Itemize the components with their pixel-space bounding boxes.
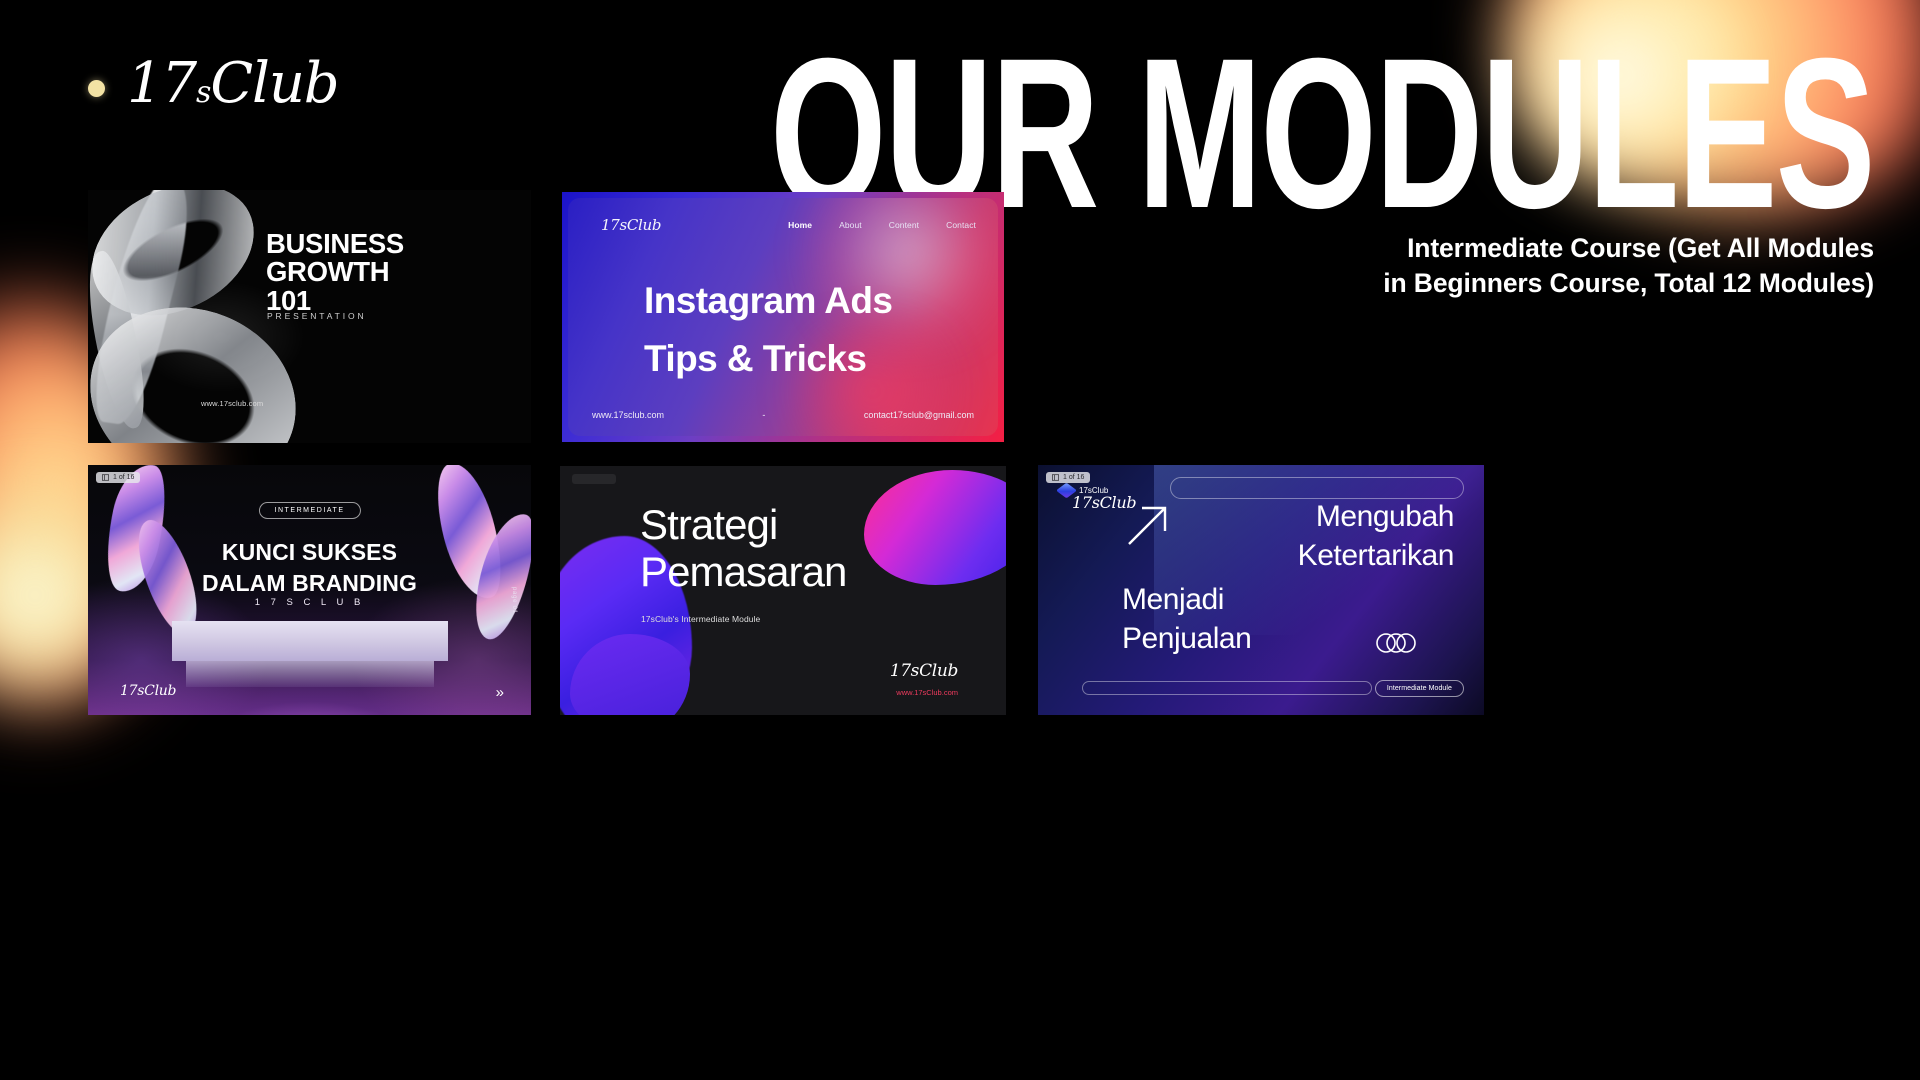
card-inner-surface: 17sClub Home About Content Contact Insta…: [568, 198, 998, 436]
dot-icon: [88, 80, 105, 97]
module-card-strategi-pemasaran[interactable]: Strategi Pemasaran 17sClub's Intermediat…: [560, 466, 1006, 715]
card-brand-logo: 17sClub: [601, 216, 661, 234]
card-heading-right: Mengubah Ketertarikan: [1298, 497, 1454, 575]
card-footer: www.17sclub.com - contact17sclub@gmail.c…: [592, 410, 974, 420]
arrow-up-right-icon: [1126, 503, 1170, 547]
slide-counter-badge: 1 of 16: [96, 472, 140, 483]
headline-block: OUR MODULES Intermediate Course (Get All…: [297, 46, 1874, 300]
card-page-label: page 01: [511, 587, 517, 614]
card-footer-dash: -: [762, 410, 765, 420]
card-url: www.17sClub.com: [896, 688, 958, 697]
card-subtitle: 17sClub's Intermediate Module: [641, 614, 760, 624]
bottom-bar-outline: [1082, 681, 1372, 695]
card-title: KUNCI SUKSES DALAM BRANDING: [88, 537, 531, 600]
card-subtitle: 1 7 S C L U B: [88, 597, 531, 608]
card-footer-email: contact17sclub@gmail.com: [864, 410, 974, 420]
slide-counter-label: 1 of 16: [113, 474, 134, 481]
card-brand-logo: 17sClub: [120, 683, 176, 699]
module-badge: Intermediate Module: [1375, 680, 1464, 697]
card-footer-url: www.17sclub.com: [592, 410, 664, 420]
nav-item-about[interactable]: About: [839, 220, 862, 230]
card-url: www.17sclub.com: [201, 399, 263, 408]
slide-icon: [1052, 474, 1059, 481]
level-badge: INTERMEDIATE: [258, 502, 360, 519]
nav-item-content[interactable]: Content: [889, 220, 919, 230]
card-kicker: PRESENTATION: [267, 311, 367, 321]
chevron-double-right-icon[interactable]: »: [496, 684, 501, 701]
card-title: BUSINESS GROWTH 101: [266, 230, 404, 315]
module-card-business-growth[interactable]: BUSINESS GROWTH 101 PRESENTATION www.17s…: [88, 190, 531, 443]
card-heading-line-1: Instagram Ads: [644, 280, 892, 321]
card-heading-line-2: Tips & Tricks: [644, 338, 866, 379]
top-pill-outline: [1170, 477, 1464, 499]
slide-counter-label: 1 of 16: [1063, 474, 1084, 481]
card-nav[interactable]: Home About Content Contact: [788, 220, 976, 230]
card-heading: Instagram Ads Tips & Tricks: [644, 272, 892, 389]
slide-icon: [102, 474, 109, 481]
card-title-line-1: KUNCI SUKSES: [222, 539, 397, 565]
card-heading-line-1: Strategi: [640, 501, 777, 548]
infinity-icon: [1374, 631, 1418, 655]
module-card-instagram-ads[interactable]: 17sClub Home About Content Contact Insta…: [562, 192, 1004, 442]
slide-counter-badge: 1 of 16: [1046, 472, 1090, 483]
card-brand-logo: 17sClub: [890, 661, 958, 681]
module-card-mengubah-ketertarikan[interactable]: 1 of 16 17sClub 17sClub Mengubah Keterta…: [1038, 465, 1484, 715]
nav-item-home[interactable]: Home: [788, 220, 812, 230]
card-heading: Strategi Pemasaran: [640, 501, 846, 595]
card-title-line-2: DALAM BRANDING: [202, 570, 417, 596]
podium-shape: [172, 621, 448, 661]
nav-item-contact[interactable]: Contact: [946, 220, 976, 230]
card-tag-placeholder: [572, 474, 616, 484]
card-heading-left: Menjadi Penjualan: [1122, 580, 1251, 658]
gradient-blob-top-right: [864, 470, 1006, 585]
module-card-kunci-sukses[interactable]: 1 of 16 INTERMEDIATE KUNCI SUKSES DALAM …: [88, 465, 531, 715]
card-heading-line-2: Pemasaran: [640, 548, 846, 595]
